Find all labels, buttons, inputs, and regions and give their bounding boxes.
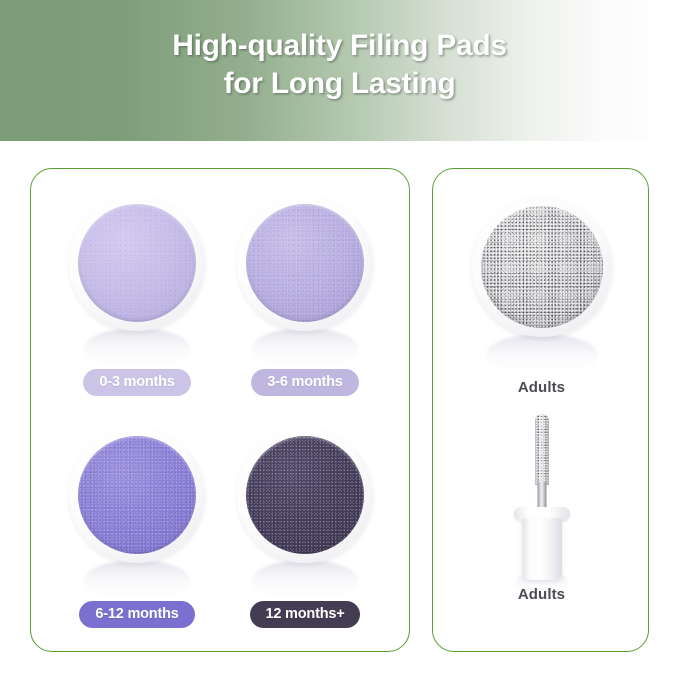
pad-grit-surface bbox=[246, 436, 364, 554]
drill-bit-assembly bbox=[497, 412, 587, 580]
baby-filing-pads-card: 0-3 months 3-6 months bbox=[30, 168, 410, 652]
pad-grit-surface bbox=[78, 436, 196, 554]
grit-speckle-texture bbox=[78, 436, 196, 554]
disc-reflection bbox=[486, 335, 598, 375]
pad-disc-rim bbox=[69, 427, 205, 563]
diamond-coated-shaft bbox=[535, 414, 548, 486]
pad-grit-surface bbox=[78, 204, 196, 322]
pad-label-0-3-months: 0-3 months bbox=[83, 369, 190, 396]
pad-visual-12-months-plus bbox=[217, 421, 393, 601]
bit-plastic-body bbox=[522, 518, 562, 580]
pad-reflection bbox=[84, 329, 190, 369]
metal-speckle-texture bbox=[481, 206, 603, 328]
pad-visual-6-12-months bbox=[49, 421, 225, 601]
adult-label-drill-bit: Adults bbox=[518, 586, 565, 603]
metal-disc-rim bbox=[472, 197, 612, 337]
adult-item-filing-disc: Adults bbox=[433, 193, 650, 397]
pad-reflection bbox=[252, 561, 358, 601]
product-infographic: High-quality Filing Pads for Long Lastin… bbox=[0, 0, 679, 679]
pad-item-0-3-months: 0-3 months bbox=[49, 189, 225, 396]
pad-disc-rim bbox=[69, 195, 205, 331]
pad-grit-surface bbox=[246, 204, 364, 322]
adult-label-disc: Adults bbox=[518, 379, 565, 396]
pad-item-6-12-months: 6-12 months bbox=[49, 421, 225, 628]
pad-visual-0-3-months bbox=[49, 189, 225, 369]
pad-item-3-6-months: 3-6 months bbox=[217, 189, 393, 396]
pad-visual-3-6-months bbox=[217, 189, 393, 369]
metal-disc-visual bbox=[433, 193, 650, 379]
pad-disc-rim bbox=[237, 195, 373, 331]
pad-disc-rim bbox=[237, 427, 373, 563]
pad-label-3-6-months: 3-6 months bbox=[251, 369, 358, 396]
pad-reflection bbox=[84, 561, 190, 601]
grit-speckle-texture bbox=[246, 204, 364, 322]
adult-accessories-card: Adults Adults bbox=[432, 168, 649, 652]
grit-speckle-texture bbox=[78, 204, 196, 322]
metal-grit-surface bbox=[481, 206, 603, 328]
bit-neck bbox=[537, 482, 546, 510]
pad-label-12-months-plus: 12 months+ bbox=[250, 601, 361, 628]
grit-speckle-texture bbox=[246, 436, 364, 554]
pad-label-6-12-months: 6-12 months bbox=[79, 601, 194, 628]
header-banner: High-quality Filing Pads for Long Lastin… bbox=[0, 0, 679, 141]
page-title: High-quality Filing Pads for Long Lastin… bbox=[0, 27, 679, 103]
drill-bit-visual bbox=[433, 412, 650, 592]
adult-item-drill-bit: Adults bbox=[433, 412, 650, 610]
pad-reflection bbox=[252, 329, 358, 369]
pad-item-12-months-plus: 12 months+ bbox=[217, 421, 393, 628]
